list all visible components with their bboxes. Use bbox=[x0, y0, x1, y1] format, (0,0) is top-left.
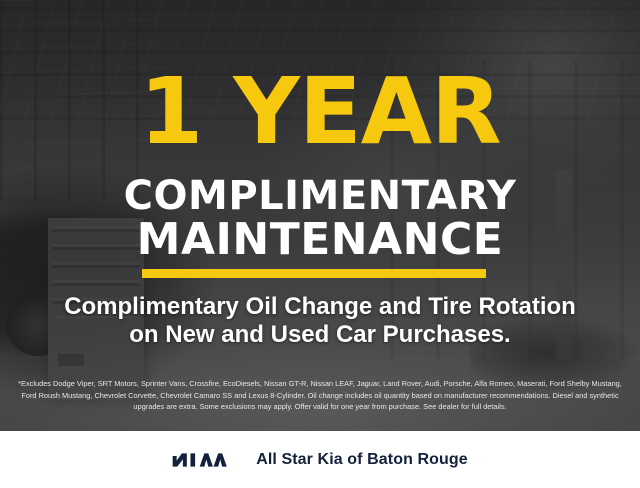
banner-copy: 1 YEAR COMPLIMENTARY MAINTENANCE Complim… bbox=[0, 0, 640, 431]
headline-secondary-line-1: COMPLIMENTARY bbox=[0, 176, 640, 216]
subheadline-line-2: on New and Used Car Purchases. bbox=[0, 322, 640, 348]
yellow-divider-rule bbox=[142, 269, 486, 278]
hero-background: 1 YEAR COMPLIMENTARY MAINTENANCE Complim… bbox=[0, 0, 640, 431]
promotional-banner: 1 YEAR COMPLIMENTARY MAINTENANCE Complim… bbox=[0, 0, 640, 488]
headline-secondary-line-2: MAINTENANCE bbox=[0, 218, 640, 262]
headline-primary: 1 YEAR bbox=[0, 66, 640, 158]
subheadline-line-1: Complimentary Oil Change and Tire Rotati… bbox=[0, 294, 640, 320]
kia-logo bbox=[172, 449, 238, 471]
disclaimer-text: *Excludes Dodge Viper, SRT Motors, Sprin… bbox=[14, 378, 626, 413]
dealer-name-label: All Star Kia of Baton Rouge bbox=[256, 451, 468, 469]
dealer-branding-bar: All Star Kia of Baton Rouge bbox=[0, 431, 640, 488]
